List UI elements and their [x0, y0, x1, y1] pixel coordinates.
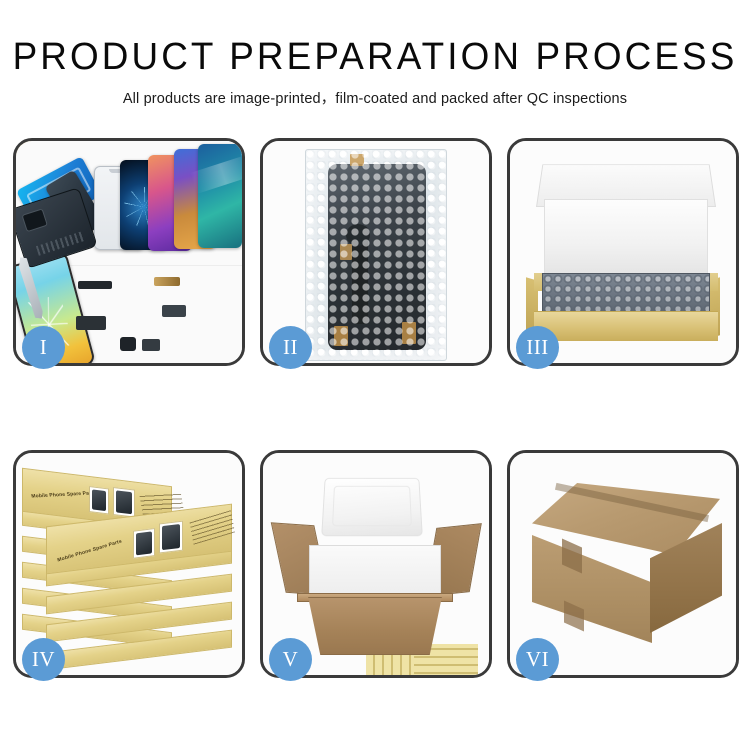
page-subtitle: All products are image-printed，film-coat… — [0, 87, 750, 108]
speaker-module — [142, 339, 160, 351]
foam-sheet — [544, 199, 708, 277]
process-step-6: VI — [507, 450, 739, 678]
phone-screen-5 — [198, 144, 242, 248]
tape-piece-2 — [340, 244, 352, 260]
step-badge-4: IV — [22, 638, 65, 681]
step-badge-5: V — [269, 638, 312, 681]
box-product-image-4 — [159, 521, 183, 554]
step-badge-6: VI — [516, 638, 559, 681]
carton-front-face — [299, 597, 451, 655]
bubble-wrap-bag — [305, 149, 447, 361]
carton-left-face — [532, 535, 652, 643]
process-step-1: I — [13, 138, 245, 366]
process-step-3: III — [507, 138, 739, 366]
header: PRODUCT PREPARATION PROCESS All products… — [0, 38, 750, 108]
box-label-text-back: Mobile Phone Spare Parts — [31, 490, 96, 499]
flex-cable-1 — [78, 281, 112, 289]
flex-cable-3 — [76, 316, 106, 330]
step-badge-1: I — [22, 326, 65, 369]
tape-piece-4 — [402, 322, 416, 344]
step-badge-2: II — [269, 326, 312, 369]
process-step-grid: I II — [13, 138, 739, 678]
styrofoam-lid — [321, 478, 423, 536]
box-spec-lines-front — [189, 507, 235, 544]
process-step-2: II — [260, 138, 492, 366]
product-preparation-infographic: PRODUCT PREPARATION PROCESS All products… — [0, 0, 750, 750]
process-step-4: Mobile Phone Spare Parts Mobile Phone Sp… — [13, 450, 245, 678]
kraft-box-front — [534, 311, 718, 341]
process-step-5: V — [260, 450, 492, 678]
box-product-image-1 — [89, 486, 109, 514]
tape-piece-3 — [334, 326, 348, 346]
step-badge-3: III — [516, 326, 559, 369]
camera-module — [120, 337, 136, 351]
page-title: PRODUCT PREPARATION PROCESS — [11, 38, 739, 78]
flex-cable-4 — [162, 305, 186, 317]
tape-piece-1 — [350, 154, 364, 166]
box-product-image-3 — [133, 528, 155, 559]
box-label-text-front: Mobile Phone Spare Parts — [57, 539, 122, 564]
bubble-wrapped-contents — [542, 273, 710, 315]
flex-cable-2 — [154, 277, 180, 286]
box-product-image-2 — [113, 487, 135, 518]
